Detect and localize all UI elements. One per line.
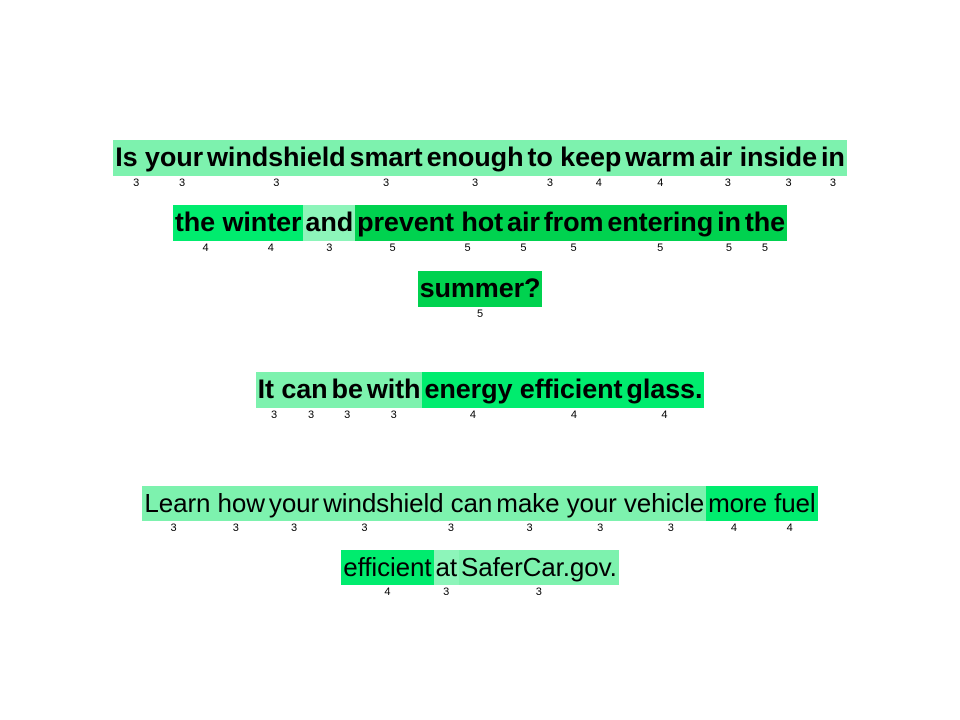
- text-line: Learn how33your3windshield can33make you…: [0, 486, 960, 534]
- highlighted-chunk[interactable]: prevent hot55: [355, 205, 505, 254]
- chunk-score-row: 44: [422, 408, 624, 421]
- chunk-text: the: [743, 205, 787, 241]
- chunk-score-row: 33: [697, 176, 819, 189]
- word-score: 5: [542, 242, 606, 254]
- chunk-text: efficient: [341, 550, 433, 585]
- word-score: 4: [623, 177, 697, 189]
- chunk-score-row: 44: [173, 241, 304, 254]
- chunk-text: windshield: [205, 140, 348, 176]
- chunk-score-row: 5: [743, 241, 787, 254]
- chunk-text: and: [303, 205, 355, 241]
- chunk-text: smart: [348, 140, 425, 176]
- highlighted-chunk[interactable]: entering5: [605, 205, 715, 254]
- chunk-score-row: 4: [623, 176, 697, 189]
- chunk-score-row: 3: [365, 408, 423, 421]
- chunk-score-row: 333: [494, 521, 706, 534]
- chunk-text: with: [365, 372, 423, 408]
- chunk-text: make your vehicle: [494, 486, 706, 521]
- highlighted-chunk[interactable]: Is your33: [113, 140, 205, 189]
- highlighted-chunk[interactable]: to keep34: [525, 140, 623, 189]
- word-score: 3: [330, 409, 365, 421]
- text-line: efficient4at3SaferCar.gov.3: [0, 550, 960, 598]
- chunk-score-row: 3: [303, 241, 355, 254]
- chunk-text: windshield can: [321, 486, 494, 521]
- word-score: 3: [425, 177, 526, 189]
- highlighted-chunk[interactable]: the5: [743, 205, 787, 254]
- chunk-score-row: 3: [205, 176, 348, 189]
- chunk-text: in: [715, 205, 743, 241]
- highlighted-chunk[interactable]: be3: [330, 372, 365, 421]
- word-score: 4: [762, 522, 818, 534]
- word-score: 5: [505, 242, 542, 254]
- chunk-text: summer?: [418, 271, 543, 307]
- chunk-text: at: [434, 550, 459, 585]
- word-score: 4: [341, 586, 433, 598]
- chunk-score-row: 3: [434, 585, 459, 598]
- chunk-score-row: 4: [624, 408, 704, 421]
- chunk-score-row: 33: [113, 176, 205, 189]
- highlighted-chunk[interactable]: energy efficient44: [422, 372, 624, 421]
- highlighted-chunk[interactable]: smart3: [348, 140, 425, 189]
- call-to-action-block: Learn how33your3windshield can33make you…: [0, 486, 960, 614]
- word-score: 3: [434, 586, 459, 598]
- chunk-score-row: 3: [330, 408, 365, 421]
- highlighted-chunk[interactable]: in3: [819, 140, 847, 189]
- word-score: 3: [697, 177, 758, 189]
- word-score: 3: [459, 586, 619, 598]
- highlighted-chunk[interactable]: make your vehicle333: [494, 486, 706, 534]
- word-score: 4: [238, 242, 303, 254]
- word-score: 3: [408, 522, 495, 534]
- word-score: 3: [348, 177, 425, 189]
- chunk-text: warm: [623, 140, 697, 176]
- chunk-text: your: [267, 486, 321, 521]
- chunk-text: air inside: [697, 140, 819, 176]
- word-score: 5: [715, 242, 743, 254]
- chunk-text: prevent hot: [355, 205, 505, 241]
- chunk-score-row: 3: [819, 176, 847, 189]
- highlighted-chunk[interactable]: at3: [434, 550, 459, 598]
- chunk-text: entering: [605, 205, 715, 241]
- word-score: 4: [706, 522, 762, 534]
- chunk-text: Is your: [113, 140, 205, 176]
- highlighted-chunk[interactable]: windshield can33: [321, 486, 494, 534]
- chunk-score-row: 5: [542, 241, 606, 254]
- word-score: 3: [142, 522, 204, 534]
- highlighted-chunk[interactable]: It can33: [256, 372, 330, 421]
- word-score: 3: [205, 177, 348, 189]
- word-score: 3: [565, 522, 636, 534]
- chunk-score-row: 3: [459, 585, 619, 598]
- chunk-text: It can: [256, 372, 330, 408]
- chunk-score-row: 34: [525, 176, 623, 189]
- highlighted-chunk[interactable]: glass.4: [624, 372, 704, 421]
- word-score: 3: [494, 522, 565, 534]
- word-score: 3: [267, 522, 321, 534]
- chunk-score-row: 55: [355, 241, 505, 254]
- chunk-text: the winter: [173, 205, 304, 241]
- answer-block: It can33be3with3energy efficient44glass.…: [0, 372, 960, 437]
- highlighted-chunk[interactable]: warm4: [623, 140, 697, 189]
- chunk-text: more fuel: [706, 486, 817, 521]
- chunk-score-row: 5: [605, 241, 715, 254]
- highlighted-chunk[interactable]: windshield3: [205, 140, 348, 189]
- highlighted-chunk[interactable]: and3: [303, 205, 355, 254]
- chunk-text: energy efficient: [422, 372, 624, 408]
- word-score: 3: [819, 177, 847, 189]
- highlighted-chunk[interactable]: from5: [542, 205, 606, 254]
- highlighted-chunk[interactable]: with3: [365, 372, 423, 421]
- word-score: 3: [293, 409, 330, 421]
- chunk-text: in: [819, 140, 847, 176]
- highlighted-chunk[interactable]: more fuel44: [706, 486, 817, 534]
- word-score: 5: [605, 242, 715, 254]
- chunk-text: to keep: [525, 140, 623, 176]
- word-score: 3: [159, 177, 205, 189]
- word-score: 3: [525, 177, 574, 189]
- word-score: 3: [365, 409, 423, 421]
- highlighted-chunk[interactable]: in5: [715, 205, 743, 254]
- word-score: 3: [113, 177, 159, 189]
- text-line: the winter44and3prevent hot55air5from5en…: [0, 205, 960, 254]
- highlighted-chunk[interactable]: enough3: [425, 140, 526, 189]
- text-line: It can33be3with3energy efficient44glass.…: [0, 372, 960, 421]
- slide-canvas: Is your33windshield3smart3enough3to keep…: [0, 0, 960, 720]
- highlighted-chunk[interactable]: SaferCar.gov.3: [459, 550, 619, 598]
- highlighted-chunk[interactable]: summer?5: [418, 271, 543, 320]
- chunk-score-row: 5: [715, 241, 743, 254]
- highlighted-chunk[interactable]: Learn how33: [142, 486, 267, 534]
- chunk-score-row: 44: [706, 521, 817, 534]
- chunk-score-row: 3: [425, 176, 526, 189]
- chunk-text: SaferCar.gov.: [459, 550, 619, 585]
- text-line: summer?5: [0, 271, 960, 320]
- chunk-text: Learn how: [142, 486, 267, 521]
- word-score: 3: [303, 242, 355, 254]
- word-score: 3: [758, 177, 819, 189]
- chunk-score-row: 5: [505, 241, 542, 254]
- chunk-score-row: 3: [348, 176, 425, 189]
- highlighted-chunk[interactable]: efficient4: [341, 550, 433, 598]
- highlighted-chunk[interactable]: your3: [267, 486, 321, 534]
- chunk-text: enough: [425, 140, 526, 176]
- word-score: 4: [574, 177, 623, 189]
- word-score: 5: [430, 242, 505, 254]
- chunk-score-row: 5: [418, 307, 543, 320]
- chunk-score-row: 4: [341, 585, 433, 598]
- question-block: Is your33windshield3smart3enough3to keep…: [0, 140, 960, 336]
- word-score: 5: [418, 308, 543, 320]
- word-score: 4: [422, 409, 523, 421]
- highlighted-chunk[interactable]: air5: [505, 205, 542, 254]
- chunk-score-row: 3: [267, 521, 321, 534]
- word-score: 4: [173, 242, 238, 254]
- word-score: 4: [523, 409, 624, 421]
- word-score: 3: [635, 522, 706, 534]
- chunk-text: air: [505, 205, 542, 241]
- highlighted-chunk[interactable]: the winter44: [173, 205, 304, 254]
- word-score: 5: [743, 242, 787, 254]
- word-score: 3: [205, 522, 267, 534]
- chunk-text: be: [330, 372, 365, 408]
- chunk-score-row: 33: [256, 408, 330, 421]
- chunk-text: from: [542, 205, 606, 241]
- word-score: 3: [321, 522, 408, 534]
- word-score: 4: [624, 409, 704, 421]
- chunk-score-row: 33: [321, 521, 494, 534]
- chunk-text: glass.: [624, 372, 704, 408]
- word-score: 5: [355, 242, 430, 254]
- word-score: 3: [256, 409, 293, 421]
- chunk-score-row: 33: [142, 521, 267, 534]
- text-line: Is your33windshield3smart3enough3to keep…: [0, 140, 960, 189]
- highlighted-chunk[interactable]: air inside33: [697, 140, 819, 189]
